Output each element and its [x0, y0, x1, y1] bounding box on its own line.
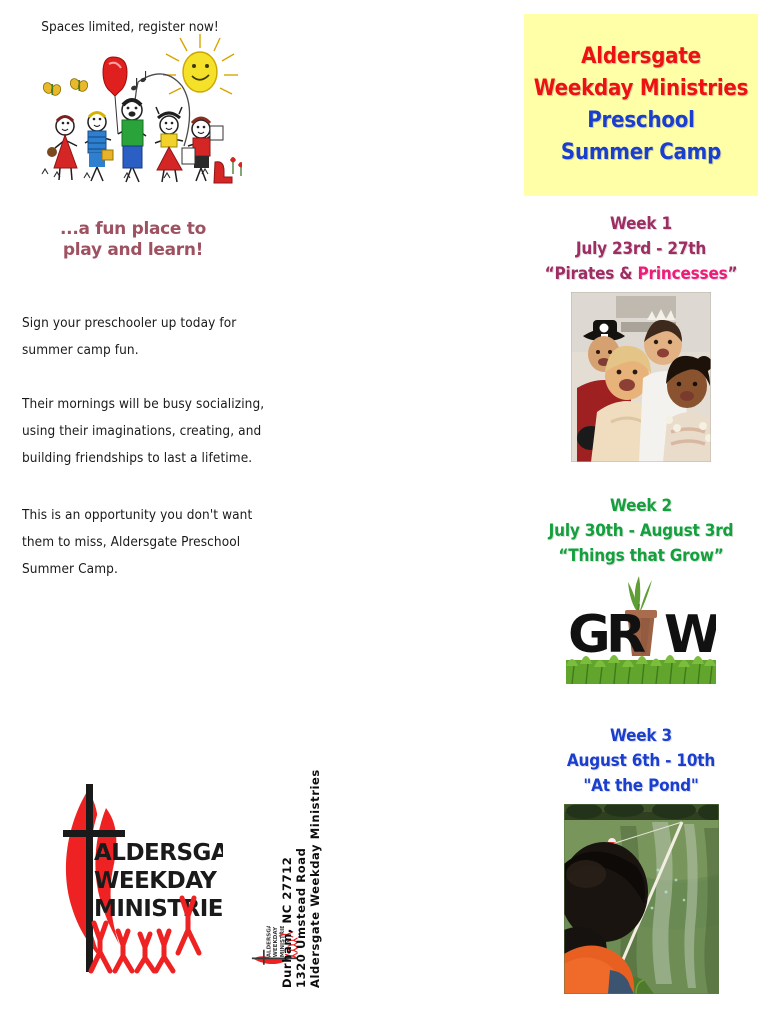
children-clipart-block: ...a fun place to play and learn! — [24, 22, 242, 272]
left-column: ...a fun place to play and learn! Sign y… — [0, 0, 500, 1024]
logo-graphic: ALDERSGATE WEEKDAY MINISTRIES — [58, 768, 223, 983]
masthead-line-3: Preschool — [587, 106, 694, 136]
address-line-city-state-zip: Durham, NC 27712 — [280, 857, 294, 988]
opportunity-paragraph: This is an opportunity you don't want th… — [22, 502, 282, 583]
week-1-theme-part-1: “Pirates & — [545, 264, 638, 284]
week-1-theme-accent: Princesses — [638, 264, 728, 284]
masthead-banner: Aldersgate Weekday Ministries Preschool … — [524, 14, 758, 196]
week-2-theme: “Things that Grow” — [512, 544, 770, 569]
intro-paragraph: Sign your preschooler up today for summe… — [22, 310, 282, 364]
aldersgate-weekday-ministries-logo: ALDERSGATE WEEKDAY MINISTRIES — [58, 768, 223, 983]
right-column: Aldersgate Weekday Ministries Preschool … — [500, 0, 770, 1024]
svg-text:MINISTRIES: MINISTRIES — [94, 896, 223, 922]
week-2-dates: July 30th - August 3rd — [512, 519, 770, 544]
week-2-label: Week 2 — [512, 494, 770, 519]
week-section-2: Week 2 July 30th - August 3rd “Things th… — [512, 494, 770, 684]
children-playing-clipart — [24, 22, 242, 217]
svg-text:WEEKDAY: WEEKDAY — [273, 926, 279, 957]
tagline-line-2: play and learn! — [24, 240, 242, 261]
pirates-and-princesses-photo — [571, 292, 711, 462]
address-block: ALDERSGATEWEEKDAYMINISTRIES Aldersgate W… — [262, 780, 318, 995]
svg-text:WEEKDAY: WEEKDAY — [94, 868, 217, 894]
week-1-theme: “Pirates & Princesses” — [512, 262, 770, 287]
masthead-line-1: Aldersgate — [581, 42, 701, 72]
svg-text:ALDERSGATE: ALDERSGATE — [266, 926, 272, 957]
week-1-theme-part-3: ” — [728, 264, 738, 284]
week-3-label: Week 3 — [512, 724, 770, 749]
child-fishing-at-pond-photo — [564, 804, 719, 994]
week-1-label: Week 1 — [512, 212, 770, 237]
week-section-1: Week 1 July 23rd - 27th “Pirates & Princ… — [512, 212, 770, 462]
masthead-line-2: Weekday Ministries — [534, 74, 748, 104]
week-3-dates: August 6th - 10th — [512, 749, 770, 774]
address-line-organization: Aldersgate Weekday Ministries — [308, 769, 322, 988]
week-3-theme: "At the Pond" — [512, 774, 770, 799]
address-line-street: 1320 Umstead Road — [294, 848, 308, 988]
grow-plant-photo: G R W — [566, 574, 716, 684]
svg-text:ALDERSGATE: ALDERSGATE — [94, 840, 223, 866]
activities-paragraph: Their mornings will be busy socializing,… — [22, 391, 282, 472]
tagline-line-1: ...a fun place to — [60, 219, 206, 239]
masthead-line-4: Summer Camp — [561, 138, 721, 168]
week-section-3: Week 3 August 6th - 10th "At the Pond" — [512, 724, 770, 994]
svg-text:G: G — [568, 605, 611, 665]
week-1-dates: July 23rd - 27th — [512, 237, 770, 262]
clipart-tagline: ...a fun place to play and learn! — [24, 219, 242, 262]
